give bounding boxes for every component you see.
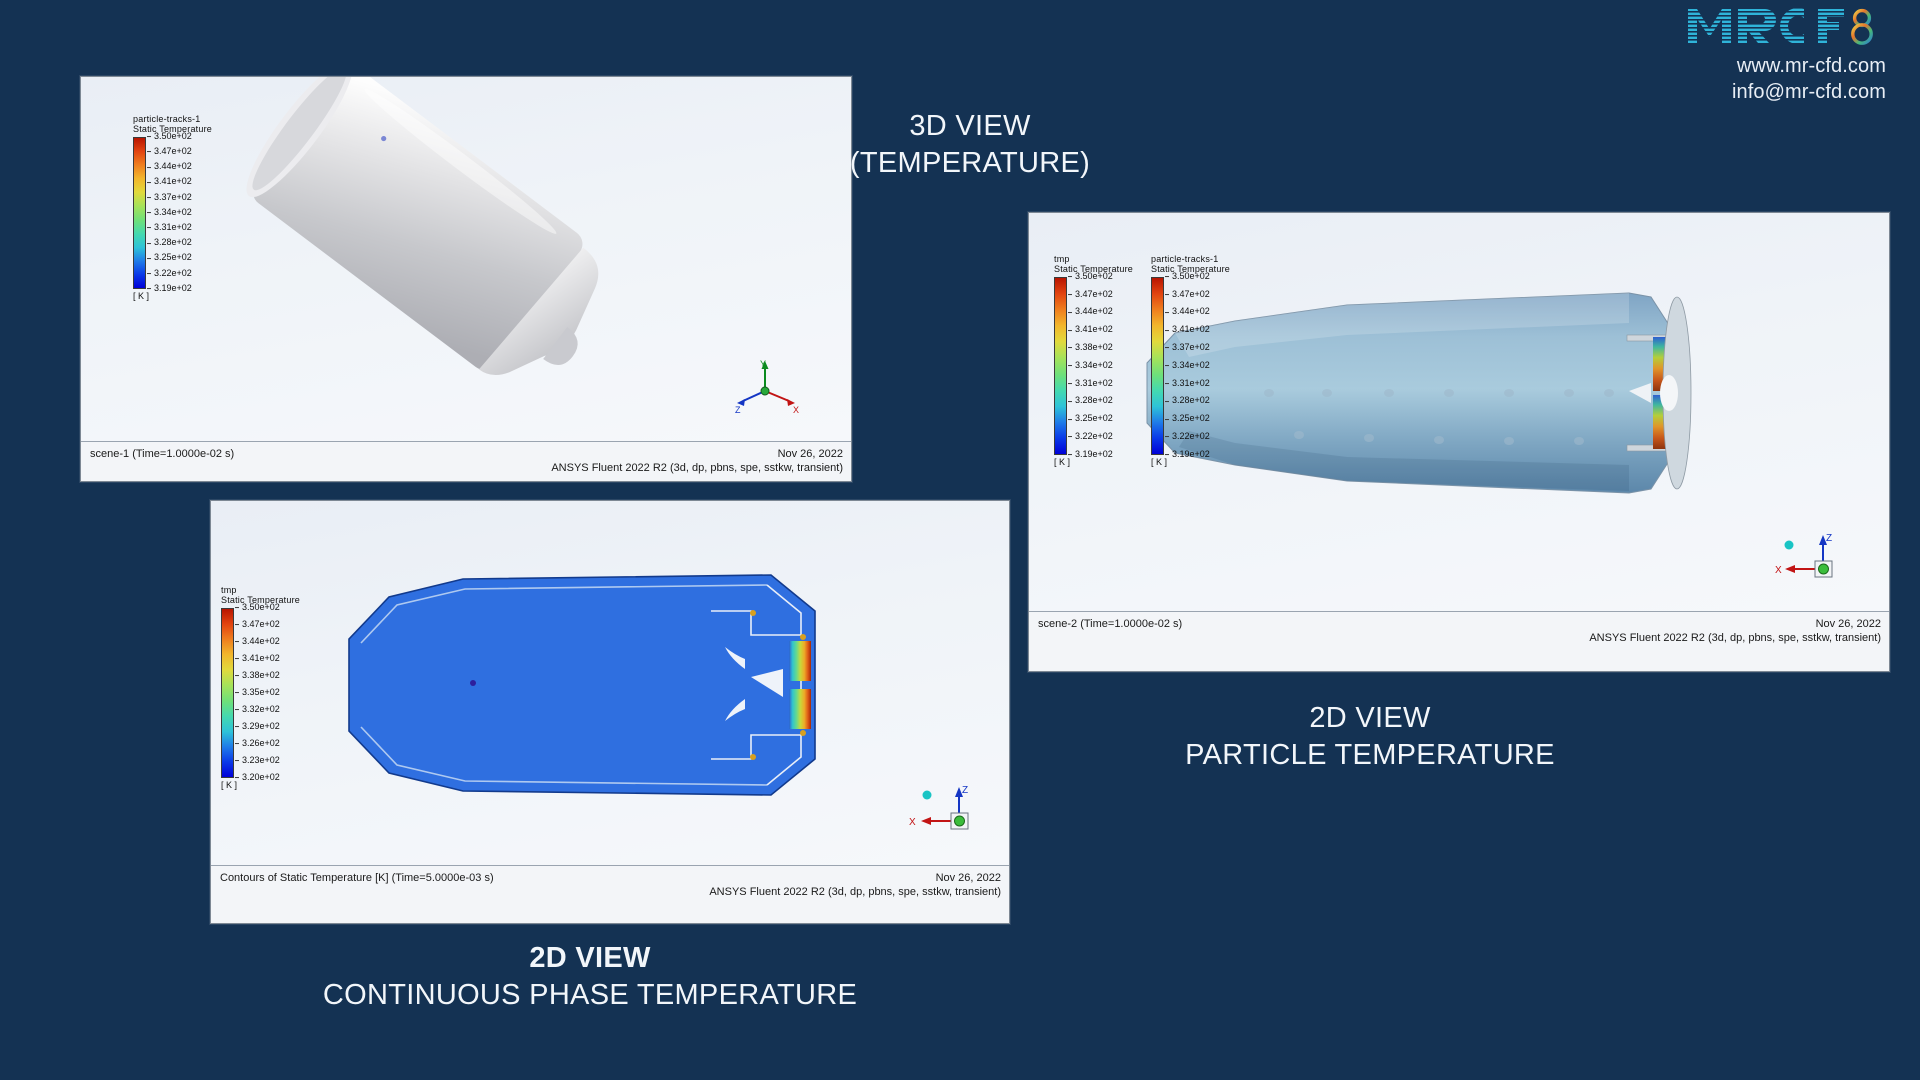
colorbar-ticks: 3.50e+023.47e+023.44e+023.41e+023.37e+02… bbox=[147, 137, 209, 289]
colorbar-tick-label: 3.34e+02 bbox=[1165, 361, 1210, 371]
tick-mark bbox=[235, 641, 239, 642]
tick-mark bbox=[235, 675, 239, 676]
tick-mark bbox=[235, 709, 239, 710]
colorbar-tick-label: 3.31e+02 bbox=[1165, 379, 1210, 389]
svg-text:Z: Z bbox=[735, 405, 741, 415]
colorbar-tick-label: 3.34e+02 bbox=[147, 208, 192, 218]
colorbar-tick-label: 3.44e+02 bbox=[235, 637, 280, 647]
legend-particle-tracks: particle-tracks-1 Static Temperature 3.5… bbox=[1151, 255, 1230, 468]
colorbar-tick-label: 3.50e+02 bbox=[1068, 272, 1113, 282]
tick-mark bbox=[1165, 294, 1169, 295]
colorbar-tick-label: 3.41e+02 bbox=[1068, 325, 1113, 335]
colorbar-tick-label: 3.44e+02 bbox=[1165, 307, 1210, 317]
colorbar-tick-label: 3.20e+02 bbox=[235, 773, 280, 783]
tick-mark bbox=[147, 243, 151, 244]
tick-mark bbox=[1165, 419, 1169, 420]
tick-mark bbox=[1165, 276, 1169, 277]
tick-mark bbox=[147, 212, 151, 213]
tick-mark bbox=[147, 151, 151, 152]
footer-scene-label: scene-1 (Time=1.0000e-02 s) bbox=[90, 448, 234, 460]
tick-mark bbox=[235, 743, 239, 744]
footer-scene-label: Contours of Static Temperature [K] (Time… bbox=[220, 872, 494, 884]
colorbar-ticks: 3.50e+023.47e+023.44e+023.41e+023.38e+02… bbox=[235, 608, 299, 778]
caption-line1: 3D VIEW bbox=[770, 108, 1170, 145]
colorbar-ticks: 3.50e+023.47e+023.44e+023.41e+023.37e+02… bbox=[1165, 277, 1229, 455]
svg-text:X: X bbox=[793, 405, 799, 415]
colorbar-tick-label: 3.50e+02 bbox=[1165, 272, 1210, 282]
tick-mark bbox=[1068, 347, 1072, 348]
legend-particle-tracks: particle-tracks-1 Static Temperature 3.5… bbox=[133, 115, 212, 302]
tick-mark bbox=[235, 658, 239, 659]
tick-mark bbox=[1068, 436, 1072, 437]
colorbar-tick-label: 3.28e+02 bbox=[1165, 396, 1210, 406]
tick-mark bbox=[147, 273, 151, 274]
tick-mark bbox=[1068, 365, 1072, 366]
colorbar-tick-label: 3.28e+02 bbox=[1068, 396, 1113, 406]
caption-line1: 2D VIEW bbox=[1080, 700, 1660, 737]
slide-canvas: www.mr-cfd.com info@mr-cfd.com bbox=[0, 0, 1920, 1080]
tick-mark bbox=[1165, 347, 1169, 348]
axis-triad-icon: Y X Z bbox=[729, 357, 805, 419]
colorbar-tick-label: 3.31e+02 bbox=[147, 223, 192, 233]
tick-mark bbox=[1165, 454, 1169, 455]
legend-tmp: tmp Static Temperature 3.50e+023.47e+023… bbox=[1054, 255, 1133, 468]
colorbar-tick-label: 3.38e+02 bbox=[1068, 343, 1113, 353]
colorbar-tick-label: 3.41e+02 bbox=[235, 654, 280, 664]
colorbar-tick-label: 3.37e+02 bbox=[1165, 343, 1210, 353]
colorbar-tick-label: 3.26e+02 bbox=[235, 739, 280, 749]
colorbar-tick-label: 3.31e+02 bbox=[1068, 379, 1113, 389]
tick-mark bbox=[1068, 330, 1072, 331]
tick-mark bbox=[1165, 401, 1169, 402]
svg-text:Z: Z bbox=[962, 785, 968, 796]
viewport-3d-geometry[interactable]: particle-tracks-1 Static Temperature 3.5… bbox=[81, 77, 851, 443]
caption-2d-particle: 2D VIEW PARTICLE TEMPERATURE bbox=[1080, 700, 1660, 774]
footer-3d-geometry: scene-1 (Time=1.0000e-02 s) Nov 26, 2022… bbox=[81, 441, 851, 481]
colorbar-tick-label: 3.25e+02 bbox=[1165, 414, 1210, 424]
footer-solver: ANSYS Fluent 2022 R2 (3d, dp, pbns, spe,… bbox=[89, 461, 843, 475]
colorbar-tick-label: 3.37e+02 bbox=[147, 193, 192, 203]
colorbar-tick-label: 3.29e+02 bbox=[235, 722, 280, 732]
tick-mark bbox=[147, 197, 151, 198]
panel-3d-geometry[interactable]: particle-tracks-1 Static Temperature 3.5… bbox=[80, 76, 852, 482]
panel-2d-contours[interactable]: tmp Static Temperature 3.50e+023.47e+023… bbox=[210, 500, 1010, 924]
tick-mark bbox=[235, 726, 239, 727]
colorbar-tick-label: 3.47e+02 bbox=[1068, 290, 1113, 300]
colorbar-tick-label: 3.50e+02 bbox=[235, 603, 280, 613]
colorbar-tick-label: 3.47e+02 bbox=[1165, 290, 1210, 300]
tick-mark bbox=[1068, 383, 1072, 384]
tick-mark bbox=[235, 624, 239, 625]
axis-triad-icon: Z X bbox=[1773, 529, 1849, 591]
colorbar-tick-label: 3.22e+02 bbox=[1165, 432, 1210, 442]
tick-mark bbox=[147, 167, 151, 168]
svg-text:X: X bbox=[909, 817, 916, 828]
colorbar-tick-label: 3.19e+02 bbox=[1165, 450, 1210, 460]
tick-mark bbox=[235, 607, 239, 608]
colorbar-tick-label: 3.19e+02 bbox=[147, 284, 192, 294]
tick-mark bbox=[147, 227, 151, 228]
colorbar-tick-label: 3.41e+02 bbox=[147, 177, 192, 187]
tick-mark bbox=[235, 777, 239, 778]
tick-mark bbox=[147, 182, 151, 183]
svg-text:X: X bbox=[1775, 565, 1782, 576]
contour-render bbox=[211, 501, 1009, 867]
tick-mark bbox=[147, 136, 151, 137]
colorbar-tick-label: 3.32e+02 bbox=[235, 705, 280, 715]
colorbar-tick-label: 3.44e+02 bbox=[147, 162, 192, 172]
colorbar-tick-label: 3.47e+02 bbox=[235, 620, 280, 630]
colorbar bbox=[133, 137, 146, 289]
axis-triad-icon: Z X bbox=[909, 781, 985, 843]
caption-line1: 2D VIEW bbox=[250, 940, 930, 977]
footer-solver: ANSYS Fluent 2022 R2 (3d, dp, pbns, spe,… bbox=[1037, 631, 1881, 645]
brand-email[interactable]: info@mr-cfd.com bbox=[1686, 80, 1886, 106]
tick-mark bbox=[1165, 330, 1169, 331]
colorbar-tick-label: 3.22e+02 bbox=[147, 269, 192, 279]
tick-mark bbox=[1165, 436, 1169, 437]
brand-website[interactable]: www.mr-cfd.com bbox=[1686, 54, 1886, 80]
colorbar bbox=[1054, 277, 1067, 455]
colorbar-tick-label: 3.28e+02 bbox=[147, 238, 192, 248]
mr-cfd-logo-icon bbox=[1686, 4, 1886, 48]
tick-mark bbox=[1068, 276, 1072, 277]
tick-mark bbox=[147, 258, 151, 259]
footer-2d-contours: Contours of Static Temperature [K] (Time… bbox=[211, 865, 1009, 923]
panel-3d-temperature[interactable]: tmp Static Temperature 3.50e+023.47e+023… bbox=[1028, 212, 1890, 672]
tick-mark bbox=[235, 760, 239, 761]
colorbar-tick-label: 3.34e+02 bbox=[1068, 361, 1113, 371]
legend-tmp: tmp Static Temperature 3.50e+023.47e+023… bbox=[221, 586, 300, 791]
caption-3d-view: 3D VIEW (TEMPERATURE) bbox=[770, 108, 1170, 182]
colorbar-tick-label: 3.19e+02 bbox=[1068, 450, 1113, 460]
tick-mark bbox=[1068, 454, 1072, 455]
colorbar-tick-label: 3.50e+02 bbox=[147, 132, 192, 142]
colorbar-tick-label: 3.38e+02 bbox=[235, 671, 280, 681]
svg-text:Y: Y bbox=[760, 359, 766, 369]
tick-mark bbox=[1165, 365, 1169, 366]
colorbar-tick-label: 3.35e+02 bbox=[235, 688, 280, 698]
footer-scene-label: scene-2 (Time=1.0000e-02 s) bbox=[1038, 618, 1182, 630]
brand-block: www.mr-cfd.com info@mr-cfd.com bbox=[1686, 4, 1886, 105]
tick-mark bbox=[1068, 294, 1072, 295]
colorbar-tick-label: 3.22e+02 bbox=[1068, 432, 1113, 442]
svg-text:Z: Z bbox=[1826, 533, 1832, 544]
viewport-2d-contours[interactable]: tmp Static Temperature 3.50e+023.47e+023… bbox=[211, 501, 1009, 867]
caption-line2: PARTICLE TEMPERATURE bbox=[1080, 737, 1660, 774]
colorbar-tick-label: 3.41e+02 bbox=[1165, 325, 1210, 335]
footer-3d-temperature: scene-2 (Time=1.0000e-02 s) Nov 26, 2022… bbox=[1029, 611, 1889, 671]
tick-mark bbox=[1068, 419, 1072, 420]
tick-mark bbox=[235, 692, 239, 693]
tick-mark bbox=[1165, 383, 1169, 384]
tick-mark bbox=[1068, 401, 1072, 402]
colorbar bbox=[221, 608, 234, 778]
viewport-3d-temperature[interactable]: tmp Static Temperature 3.50e+023.47e+023… bbox=[1029, 213, 1889, 613]
colorbar bbox=[1151, 277, 1164, 455]
colorbar-tick-label: 3.47e+02 bbox=[147, 147, 192, 157]
tick-mark bbox=[147, 288, 151, 289]
caption-2d-continuous: 2D VIEW CONTINUOUS PHASE TEMPERATURE bbox=[250, 940, 930, 1014]
tick-mark bbox=[1165, 312, 1169, 313]
caption-line2: CONTINUOUS PHASE TEMPERATURE bbox=[250, 977, 930, 1014]
caption-line2: (TEMPERATURE) bbox=[770, 145, 1170, 182]
footer-solver: ANSYS Fluent 2022 R2 (3d, dp, pbns, spe,… bbox=[219, 885, 1001, 899]
colorbar-tick-label: 3.44e+02 bbox=[1068, 307, 1113, 317]
colorbar-tick-label: 3.25e+02 bbox=[1068, 414, 1113, 424]
colorbar-tick-label: 3.23e+02 bbox=[235, 756, 280, 766]
colorbar-ticks: 3.50e+023.47e+023.44e+023.41e+023.38e+02… bbox=[1068, 277, 1132, 455]
tick-mark bbox=[1068, 312, 1072, 313]
colorbar-tick-label: 3.25e+02 bbox=[147, 253, 192, 263]
